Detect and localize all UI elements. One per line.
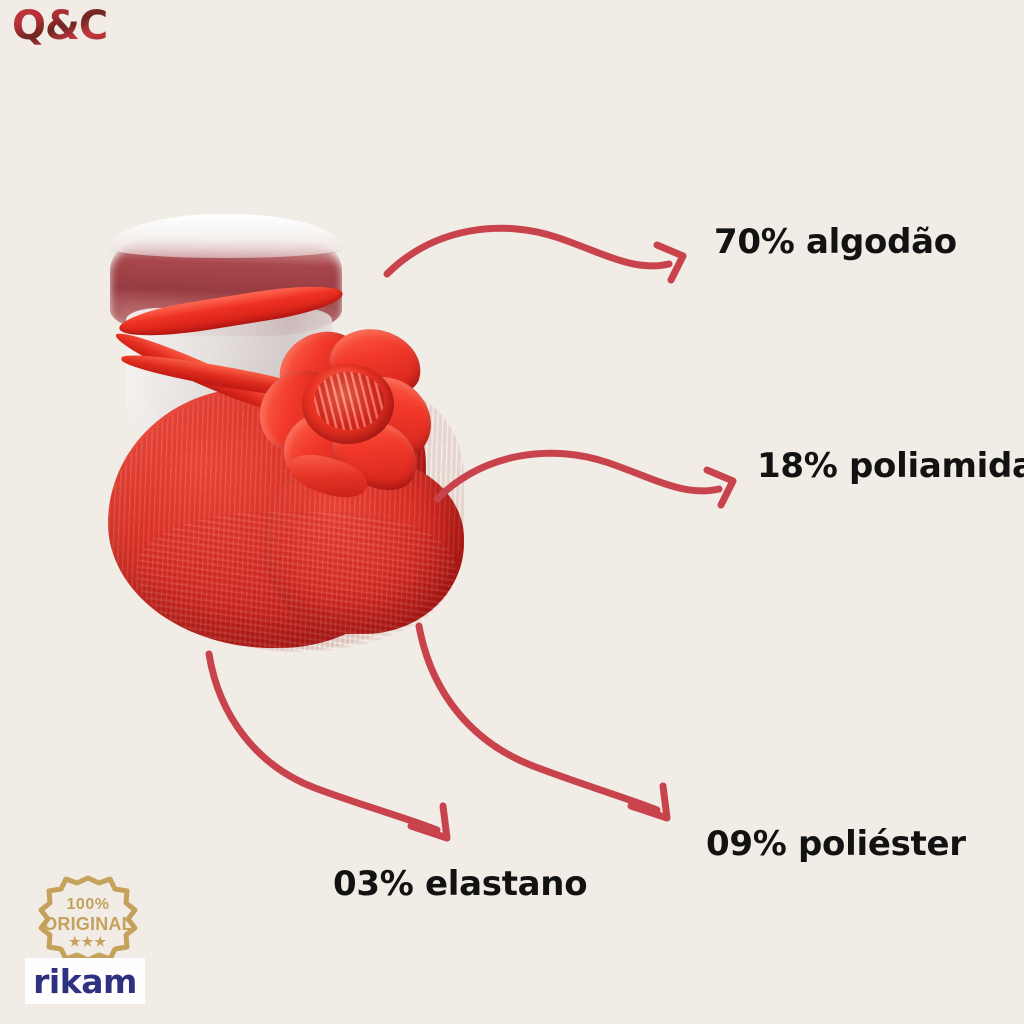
- rikam-brand-badge: rikam: [25, 958, 145, 1004]
- rikam-brand-text: rikam: [33, 965, 137, 998]
- callout-label-polyamide: 18% poliamida: [757, 446, 1024, 486]
- infographic-canvas: Q&C 70% a: [0, 0, 1024, 1024]
- callout-label-elastane: 03% elastano: [333, 864, 587, 904]
- sock-clear-form-rim: [110, 214, 342, 258]
- seal-stars-icon: ★★★: [33, 934, 143, 950]
- original-seal-badge: 100% ORIGINAL ★★★: [33, 872, 143, 964]
- callout-label-cotton: 70% algodão: [714, 222, 957, 262]
- callout-arrow-polyamide: [433, 437, 763, 517]
- seal-percent-text: 100%: [33, 896, 143, 914]
- brand-logo-qc: Q&C: [12, 6, 107, 46]
- callout-arrow-elastane: [203, 648, 493, 853]
- seal-original-text: ORIGINAL: [33, 914, 143, 935]
- satin-flower-pleats: [314, 372, 384, 430]
- product-image-red-baby-sock: [96, 212, 466, 652]
- sock-knit-texture-toe: [136, 512, 456, 652]
- callout-label-polyester: 09% poliéster: [706, 824, 966, 864]
- callout-arrow-polyester: [413, 620, 713, 835]
